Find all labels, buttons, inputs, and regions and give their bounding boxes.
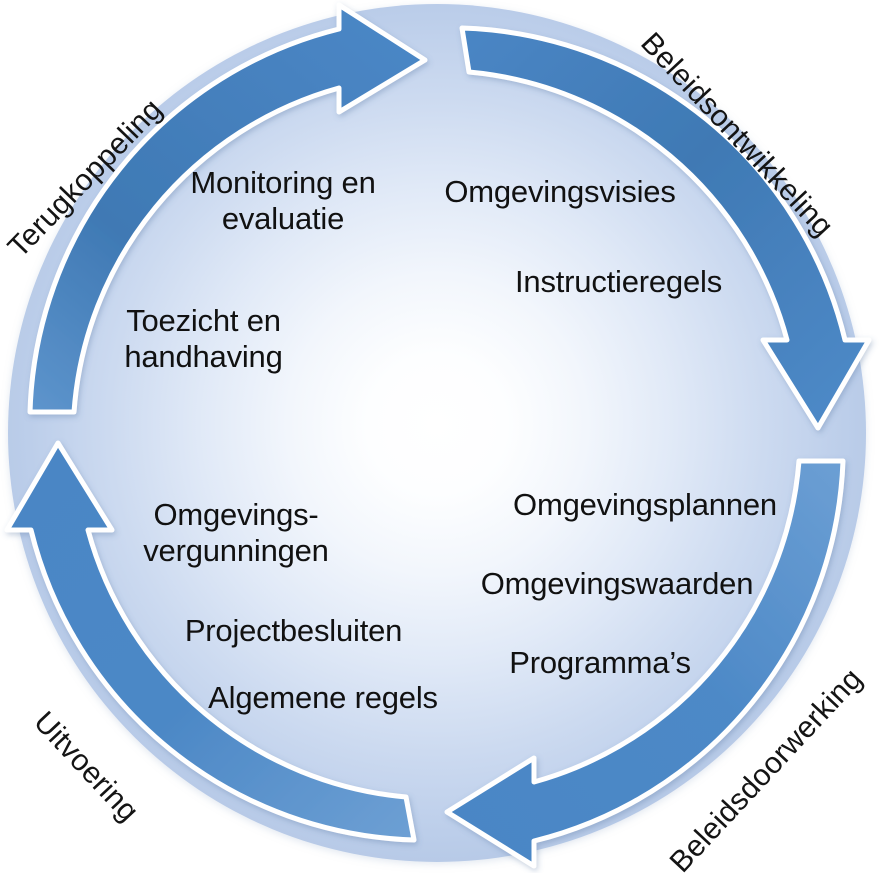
item-omgevingsvergunningen: Omgevings- vergunningen: [122, 497, 350, 568]
cycle-diagram: Terugkoppeling Beleidsontwikkeling Belei…: [0, 0, 888, 873]
item-programmas: Programma’s: [494, 646, 706, 681]
item-omgevingswaarden: Omgevingswaarden: [462, 567, 772, 602]
item-omgevingsvisies: Omgevingsvisies: [430, 175, 690, 210]
item-projectbesluiten: Projectbesluiten: [166, 614, 421, 649]
item-omgevingsplannen: Omgevingsplannen: [495, 488, 795, 523]
item-monitoring-en-evaluatie: Monitoring en evaluatie: [168, 165, 398, 236]
item-instructieregels: Instructieregels: [497, 265, 740, 300]
item-algemene-regels: Algemene regels: [198, 681, 448, 716]
item-toezicht-en-handhaving: Toezicht en handhaving: [96, 303, 311, 374]
